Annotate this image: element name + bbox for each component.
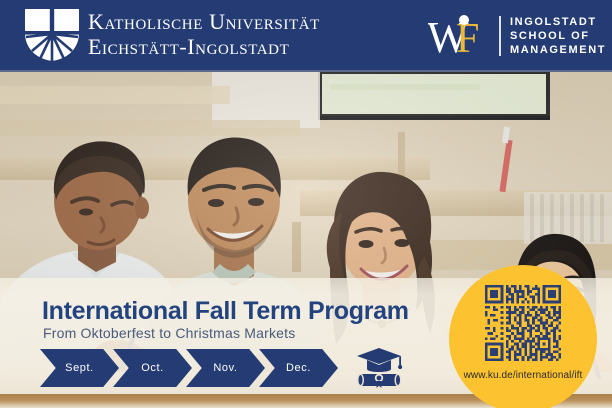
month-chevron-dec[interactable]: Dec. (259, 349, 338, 387)
qr-badge[interactable]: www.ku.de/international/ift (449, 265, 597, 408)
page-subtitle: From Oktoberfest to Christmas Markets (43, 325, 295, 341)
ku-shield-logo (23, 7, 81, 63)
wfi-monogram-icon: W F (428, 12, 490, 60)
header-bar: Katholische Universität Eichstätt-Ingols… (0, 0, 612, 72)
wfi-divider (499, 16, 501, 56)
month-chevron-sept[interactable]: Sept. (40, 349, 119, 387)
month-label: Nov. (213, 362, 237, 374)
wfi-line-3: MANAGEMENT (510, 44, 606, 56)
wfi-logo-block: W F INGOLSTADT SCHOOL OF MANAGEMENT (428, 8, 606, 64)
page-title: International Fall Term Program (42, 297, 409, 326)
wfi-name-lines: INGOLSTADT SCHOOL OF MANAGEMENT (510, 16, 606, 56)
university-name-line1: Katholische Universität (88, 9, 320, 34)
wfi-line-1: INGOLSTADT (510, 16, 606, 28)
university-name-line2: Eichstätt-Ingolstadt (88, 34, 320, 59)
month-label: Dec. (286, 362, 311, 374)
qr-code-image (485, 285, 561, 361)
month-chevron-nov[interactable]: Nov. (186, 349, 265, 387)
timeline-months: Sept. Oct. Nov. Dec. (40, 349, 332, 387)
wfi-line-2: SCHOOL OF (510, 30, 606, 42)
qr-url-label: www.ku.de/international/ift (464, 370, 583, 381)
university-name: Katholische Universität Eichstätt-Ingols… (88, 9, 320, 59)
month-chevron-oct[interactable]: Oct. (113, 349, 192, 387)
header-divider (0, 70, 612, 72)
month-label: Oct. (141, 362, 164, 374)
month-label: Sept. (65, 362, 94, 374)
graduation-cap-diploma-icon (357, 345, 405, 389)
poster-root: International Fall Term Program From Okt… (0, 0, 612, 408)
